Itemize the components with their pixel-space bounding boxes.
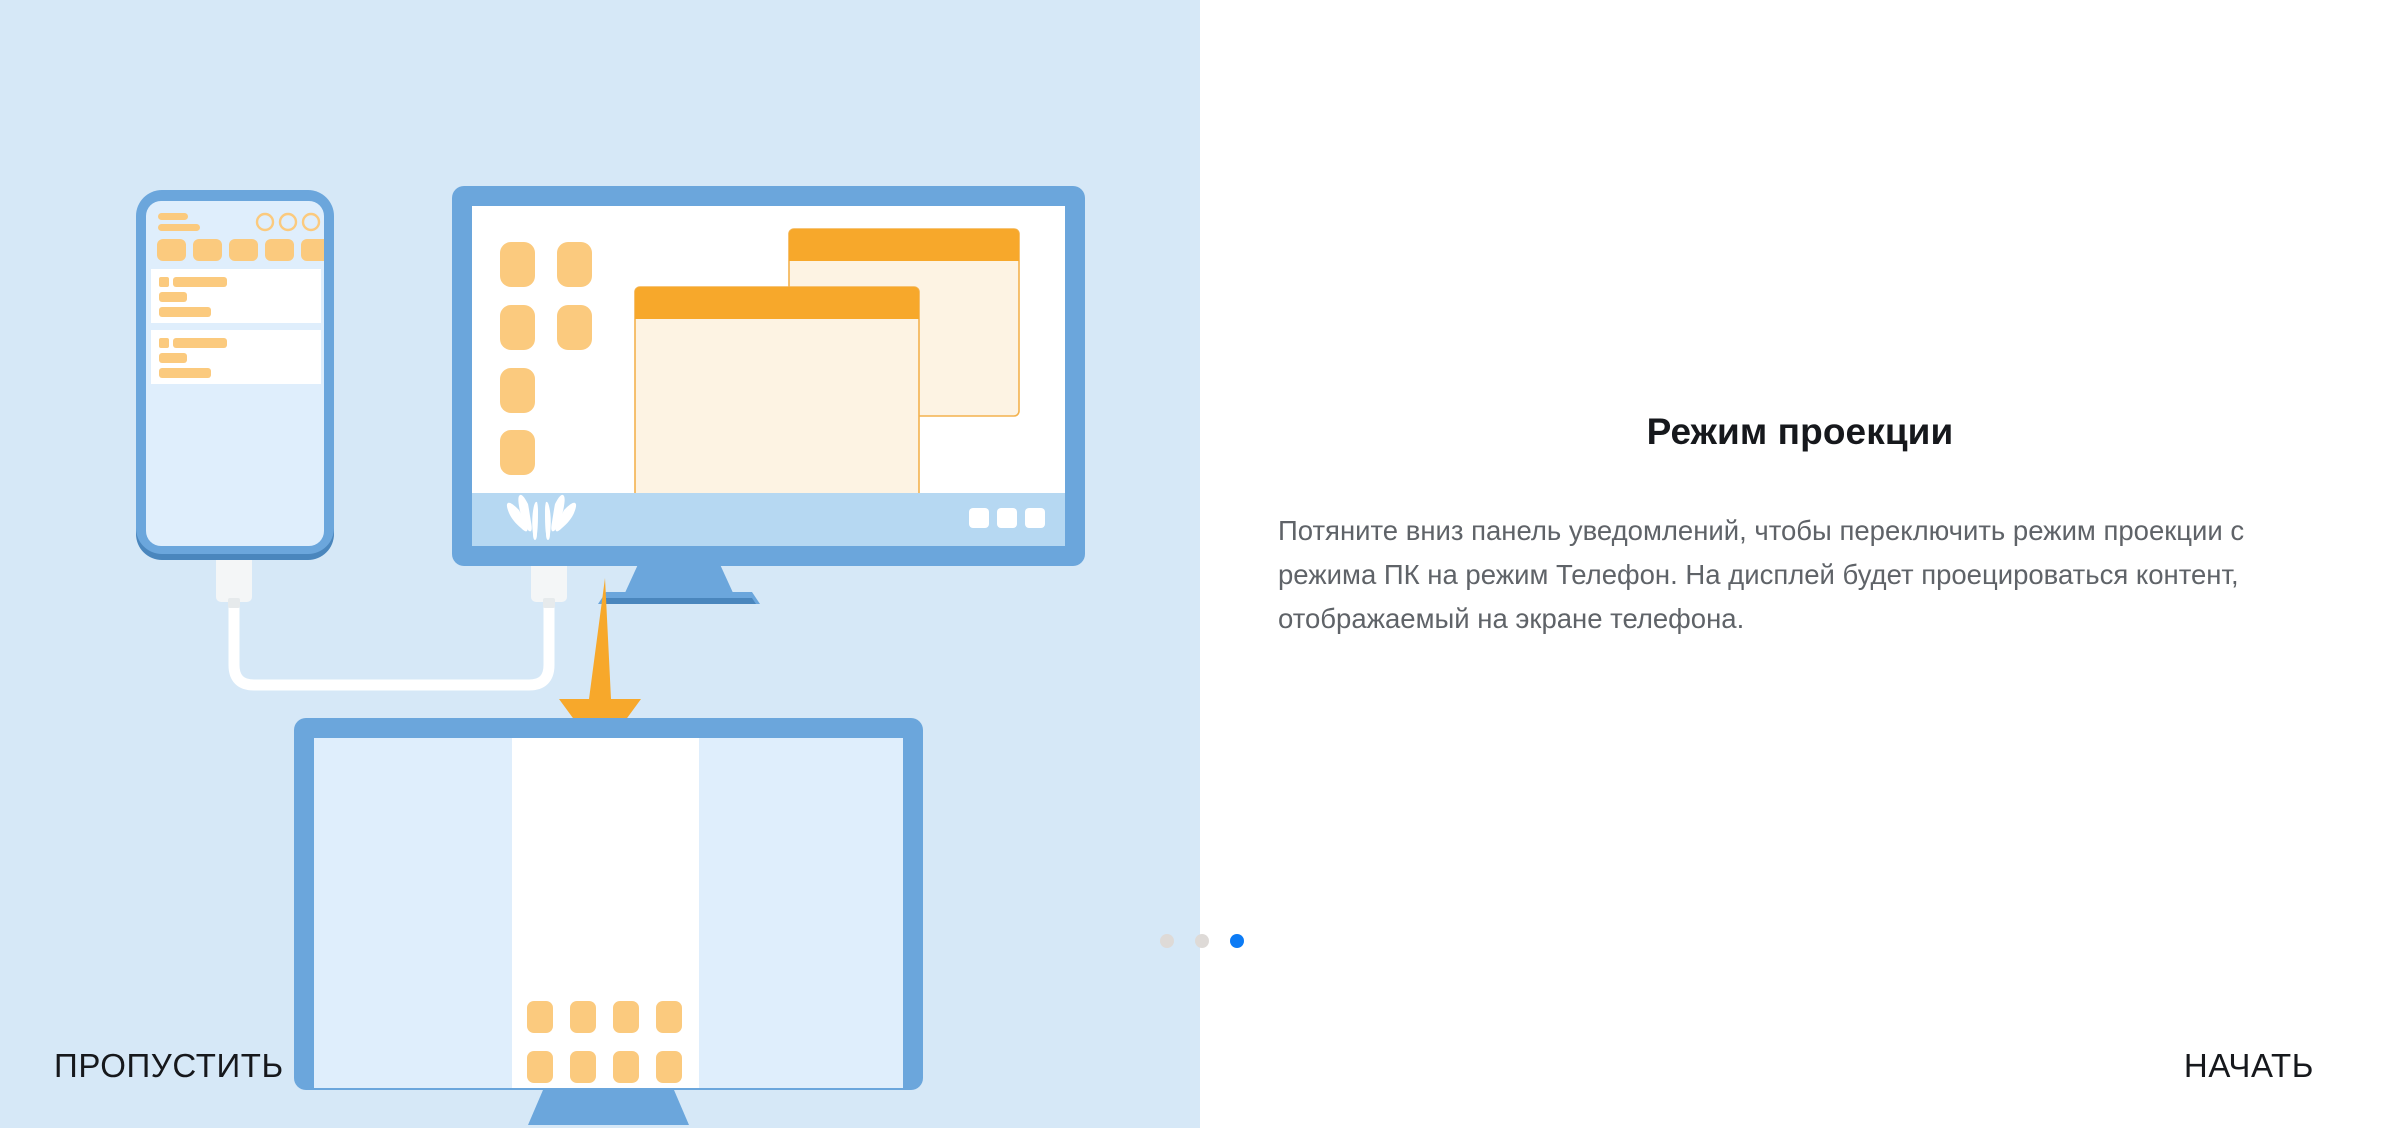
page-description: Потяните вниз панель уведомлений, чтобы … — [1278, 509, 2318, 641]
app-icon — [570, 1001, 596, 1033]
illustration-panel — [0, 0, 1200, 1128]
desktop-icon — [500, 305, 535, 350]
start-button[interactable]: НАЧАТЬ — [2184, 1047, 2314, 1085]
app-icon — [527, 1001, 553, 1033]
app-icon — [613, 1051, 639, 1083]
app-icon — [613, 1001, 639, 1033]
page-indicator — [1160, 934, 1244, 948]
quick-toggle-icon — [265, 239, 294, 261]
desktop-icon — [557, 242, 592, 287]
page-title: Режим проекции — [1200, 411, 2400, 453]
taskbar-tray-square — [1025, 508, 1045, 528]
desktop-window-front — [635, 287, 919, 529]
desktop-icon — [500, 430, 535, 475]
monitor-phone-mode — [294, 718, 923, 1125]
desktop-icon — [500, 242, 535, 287]
quick-toggle-icon — [193, 239, 222, 261]
desktop-icon — [500, 368, 535, 413]
app-icon — [656, 1001, 682, 1033]
projection-illustration — [0, 0, 1200, 1128]
page-dot-1[interactable] — [1160, 934, 1174, 948]
mirrored-phone-area — [512, 738, 699, 1088]
desktop-icon — [557, 305, 592, 350]
source-phone — [136, 190, 334, 560]
monitor-stand-neck — [528, 1090, 689, 1125]
skip-button[interactable]: ПРОПУСТИТЬ — [54, 1047, 284, 1085]
page-dot-3[interactable] — [1230, 934, 1244, 948]
monitor-taskbar — [472, 493, 1065, 546]
quick-toggle-icon — [157, 239, 186, 261]
notification-card — [151, 269, 321, 323]
page-dot-2[interactable] — [1195, 934, 1209, 948]
content-panel: Режим проекции Потяните вниз панель увед… — [1200, 0, 2400, 1128]
monitor-pc-mode — [452, 186, 1085, 604]
app-icon — [527, 1051, 553, 1083]
taskbar-tray-square — [969, 508, 989, 528]
quick-toggle-icon — [229, 239, 258, 261]
app-icon — [570, 1051, 596, 1083]
notification-card — [151, 330, 321, 384]
taskbar-tray-square — [997, 508, 1017, 528]
app-icon — [656, 1051, 682, 1083]
